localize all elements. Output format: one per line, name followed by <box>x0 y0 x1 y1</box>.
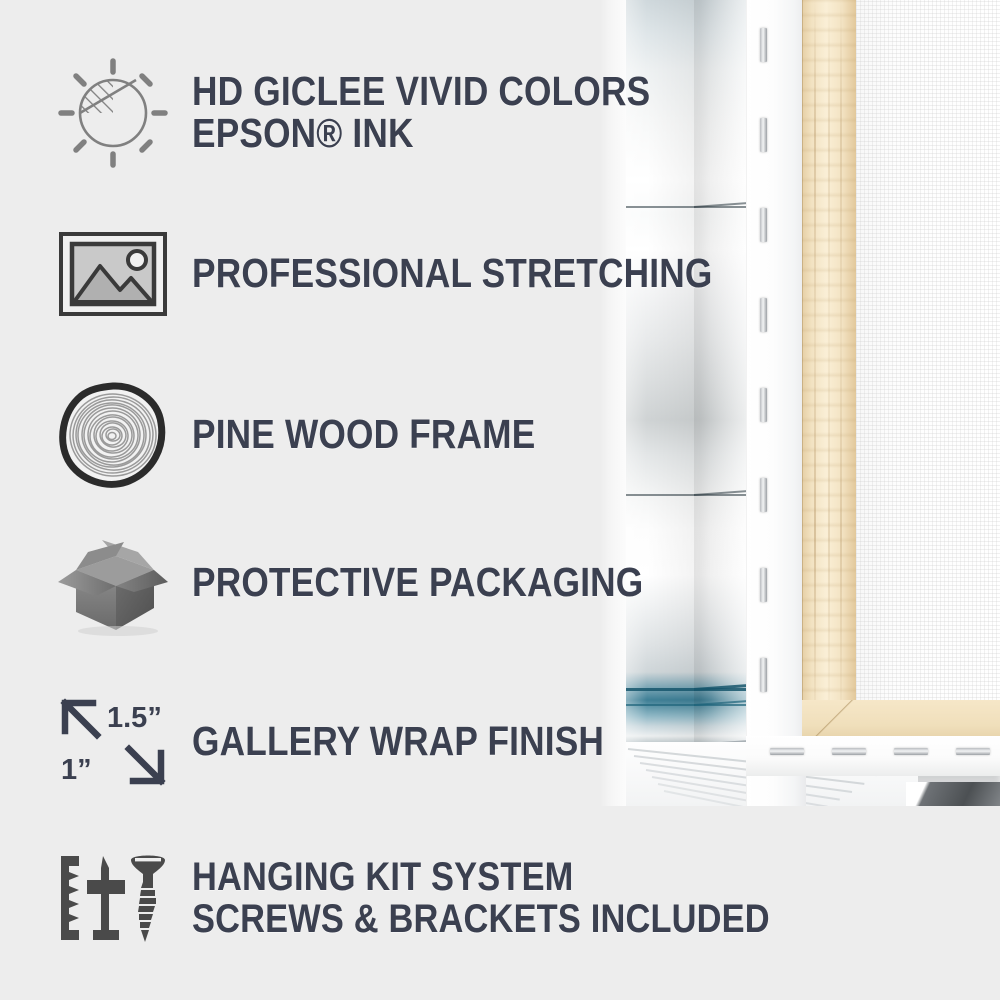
feature-protective-packaging: PROTECTIVE PACKAGING <box>52 528 717 638</box>
feature-hanging-kit: HANGING KIT SYSTEM SCREWS & BRACKETS INC… <box>52 848 864 948</box>
canvas-staple <box>832 748 866 755</box>
open-box-icon <box>52 528 174 638</box>
canvas-staple <box>760 118 767 152</box>
feature-label-line: HD GICLEE VIVID COLORS <box>192 71 650 113</box>
canvas-staple <box>760 388 767 422</box>
feature-label: GALLERY WRAP FINISH <box>192 721 604 763</box>
canvas-back-texture <box>852 0 1000 742</box>
feature-label-line: SCREWS & BRACKETS INCLUDED <box>192 898 770 940</box>
feature-label-line: GALLERY WRAP FINISH <box>192 721 604 763</box>
hardware-icon <box>52 848 174 948</box>
canvas-bottom-wrap <box>746 736 1000 776</box>
feature-gallery-wrap-finish: 1.5” 1” GALLERY WRAP FINISH <box>52 692 671 792</box>
feature-hd-giclee: HD GICLEE VIVID COLORS EPSON® INK <box>52 52 725 174</box>
width-dimension-label: 1” <box>61 754 92 786</box>
sun-icon <box>52 52 174 174</box>
canvas-staple <box>770 748 804 755</box>
feature-label-line: PINE WOOD FRAME <box>192 414 535 456</box>
tree-rings-icon <box>52 380 174 490</box>
canvas-staple <box>760 28 767 62</box>
canvas-staple <box>956 748 990 755</box>
frame-shadow-gap <box>906 782 1000 806</box>
picture-frame-icon <box>52 226 174 321</box>
canvas-staple <box>760 568 767 602</box>
feature-list: HD GICLEE VIVID COLORS EPSON® INK PROFES… <box>0 0 690 1000</box>
canvas-staple <box>760 478 767 512</box>
canvas-staple <box>894 748 928 755</box>
dimension-arrows-icon: 1.5” 1” <box>52 692 174 792</box>
canvas-wrap-edge <box>746 0 806 806</box>
feature-label: HD GICLEE VIVID COLORS EPSON® INK <box>192 71 650 155</box>
feature-label-line: PROTECTIVE PACKAGING <box>192 562 643 604</box>
feature-label-line: HANGING KIT SYSTEM <box>192 856 770 898</box>
canvas-staple <box>760 658 767 692</box>
feature-label-line: PROFESSIONAL STRETCHING <box>192 253 713 295</box>
depth-dimension-label: 1.5” <box>107 702 162 734</box>
infographic-canvas: HD GICLEE VIVID COLORS EPSON® INK PROFES… <box>0 0 1000 1000</box>
feature-label: PROTECTIVE PACKAGING <box>192 562 643 604</box>
feature-label: PINE WOOD FRAME <box>192 414 535 456</box>
feature-label: HANGING KIT SYSTEM SCREWS & BRACKETS INC… <box>192 856 770 941</box>
feature-professional-stretching: PROFESSIONAL STRETCHING <box>52 226 797 321</box>
feature-label: PROFESSIONAL STRETCHING <box>192 253 713 295</box>
feature-label-line: EPSON® INK <box>192 113 650 155</box>
pine-stretcher-bar <box>802 0 856 742</box>
feature-pine-wood-frame: PINE WOOD FRAME <box>52 380 591 490</box>
